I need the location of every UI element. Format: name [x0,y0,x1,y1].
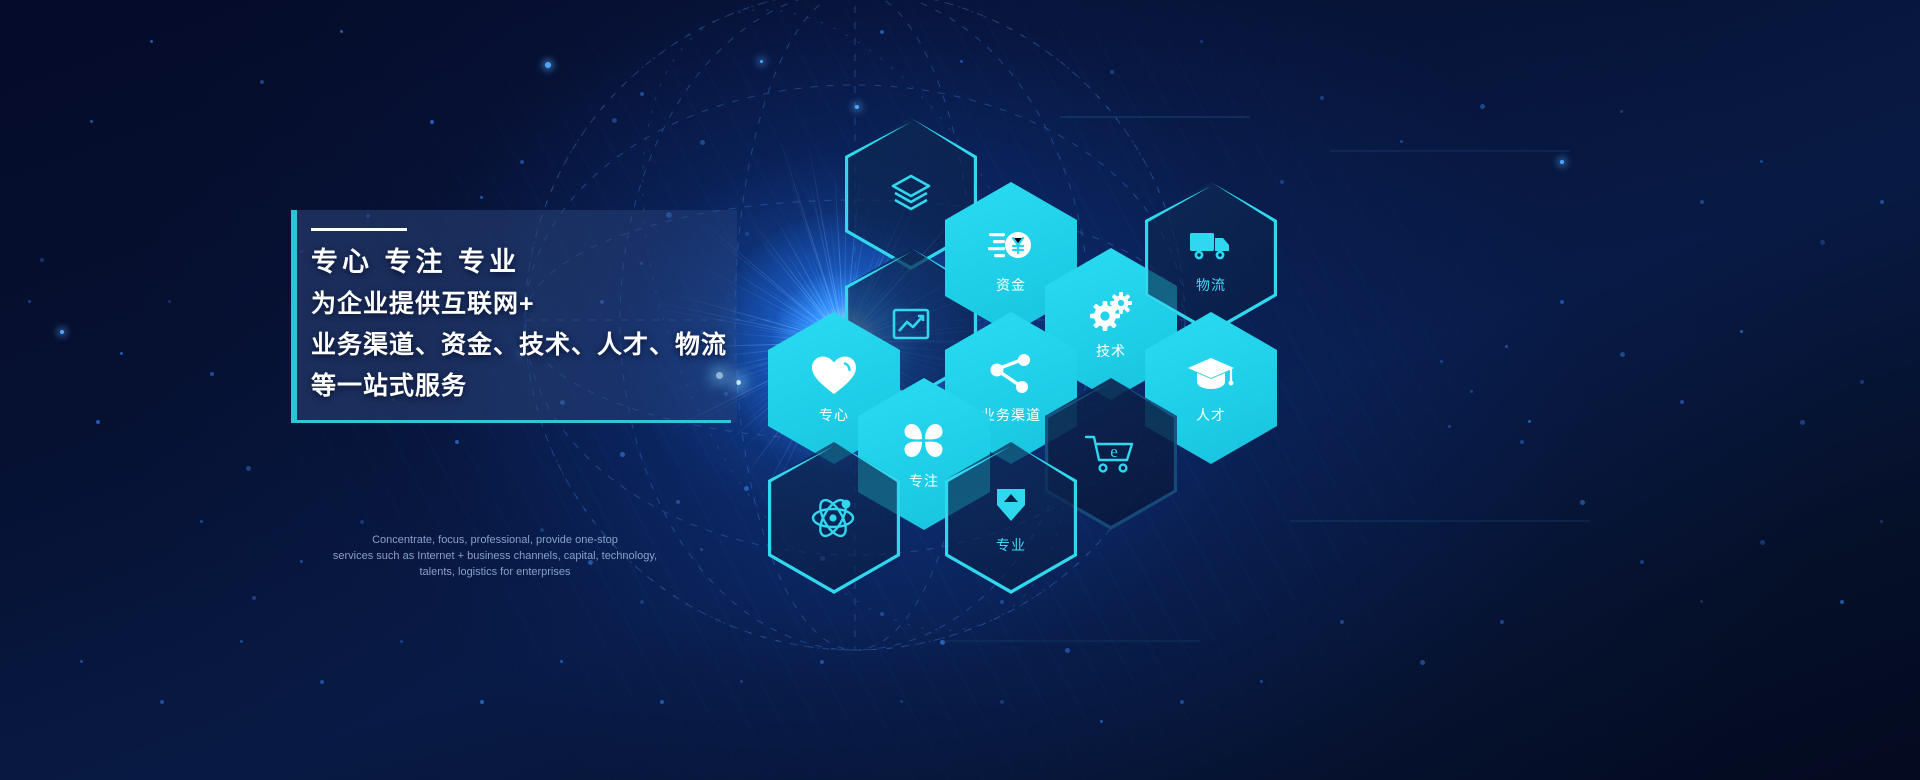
truck-icon [1187,222,1235,268]
hexagon-label: 专注 [909,471,939,491]
atom-icon [810,495,858,541]
hexagon-label: 业务渠道 [981,405,1041,425]
hexagon-label: 专心 [819,405,849,425]
chart-growth-icon [888,301,934,347]
gears-icon [1087,288,1135,334]
hexagon-label: 物流 [1196,275,1226,295]
graduation-cap-icon [1186,352,1236,398]
layers-icon [888,171,934,217]
diamond-icon [989,482,1033,528]
hexagon-label: 资金 [996,275,1026,295]
hexagon-cluster: 资金 [0,0,1920,780]
heart-icon [809,352,859,398]
share-nodes-icon [988,352,1034,398]
hexagon-label: 技术 [1096,341,1126,361]
clover-icon [901,418,947,464]
hero-banner: 专心 专注 专业 为企业提供互联网+ 业务渠道、资金、技术、人才、物流 等一站式… [0,0,1920,780]
svg-text:e: e [1110,442,1118,461]
yen-coin-icon [987,222,1035,268]
shopping-cart-e-icon: e [1083,431,1139,477]
hexagon-label: 专业 [996,535,1026,555]
hexagon-label: 人才 [1196,405,1226,425]
